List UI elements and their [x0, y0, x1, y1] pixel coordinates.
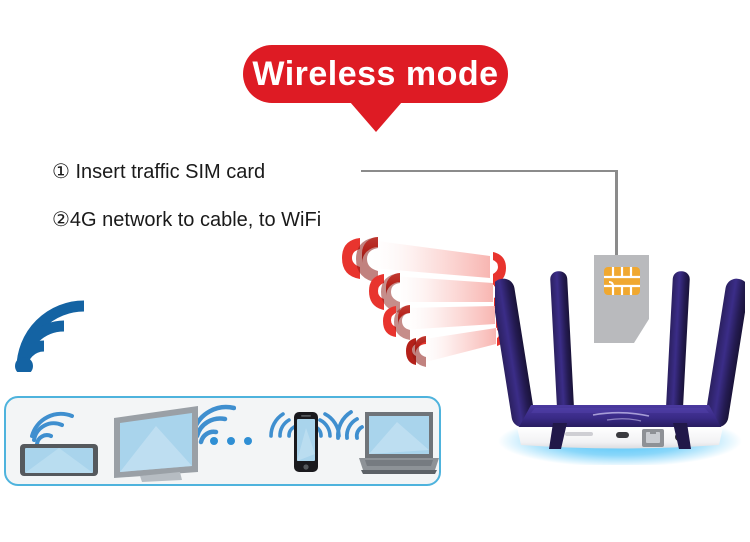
instruction-line-1: ① Insert traffic SIM card	[52, 159, 265, 184]
wifi-icon	[12, 296, 92, 372]
sim-chip-icon	[604, 267, 640, 295]
dot	[210, 437, 218, 445]
wireless-mode-badge: Wireless mode	[243, 45, 508, 103]
wifi-icon	[338, 412, 362, 438]
badge-label: Wireless mode	[252, 57, 498, 91]
dot	[227, 437, 235, 445]
device-smartphone	[267, 402, 343, 483]
badge-pointer-triangle-icon	[350, 102, 402, 132]
wifi-icon	[271, 414, 294, 436]
micro-usb-port	[616, 432, 629, 438]
separator-dots	[210, 437, 252, 445]
home-button	[303, 464, 308, 469]
sim-slot	[565, 432, 593, 436]
dot	[244, 437, 252, 445]
wifi-icon	[32, 414, 72, 444]
device-laptop	[335, 400, 439, 485]
instruction-line-2: ②4G network to cable, to WiFi	[52, 207, 321, 232]
diagram-canvas: Wireless mode ① Insert traffic SIM card …	[0, 0, 750, 542]
badge-pill: Wireless mode	[243, 45, 508, 103]
sim-card	[594, 255, 649, 343]
callout-line-horizontal	[361, 170, 617, 172]
